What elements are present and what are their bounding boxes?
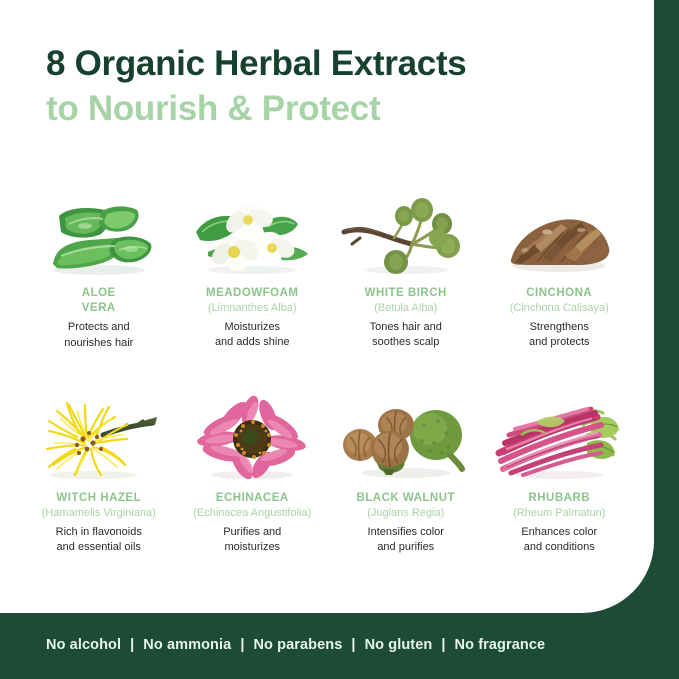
extract-desc-line1: Tones hair and — [370, 321, 442, 333]
white-birch-branch-icon — [338, 186, 474, 278]
claim-separator: | — [121, 637, 143, 653]
extract-desc-line2: and purifies — [377, 541, 434, 553]
extract-card-aloe-vera: ALOE VERA Protects and nourishes hair — [22, 186, 176, 391]
extract-card-black-walnut: BLACK WALNUT (Juglans Regia) Intensifies… — [329, 391, 483, 596]
extract-description: Rich in flavonoids and essential oils — [56, 525, 142, 556]
extract-card-rhubarb: RHUBARB (Rheum Palmatun) Enhances color … — [483, 391, 637, 596]
extract-name: WHITE BIRCH — [365, 286, 447, 301]
extract-desc-line1: Purifies and — [223, 526, 281, 538]
extract-description: Purifies and moisturizes — [223, 525, 281, 556]
extract-name: CINCHONA — [526, 286, 592, 301]
extract-name: MEADOWFOAM — [206, 286, 299, 301]
extract-desc-line2: and adds shine — [215, 336, 290, 348]
extract-card-meadowfoam: MEADOWFOAM (Limnanthes Alba) Moisturizes… — [176, 186, 330, 391]
claim-no-parabens: No parabens — [253, 637, 342, 653]
extract-latin-name: (Hamamelis Virginiana) — [42, 506, 156, 520]
extract-description: Intensifies color and purifies — [368, 525, 444, 556]
claim-separator: | — [432, 637, 454, 653]
claim-separator: | — [231, 637, 253, 653]
claim-no-gluten: No gluten — [365, 637, 433, 653]
extract-name: WITCH HAZEL — [56, 491, 141, 506]
claims-list: No alcohol | No ammonia | No parabens | … — [46, 637, 545, 653]
cinchona-bark-icon — [491, 186, 627, 278]
extract-desc-line2: soothes scalp — [372, 336, 439, 348]
aloe-vera-leaves-icon — [31, 186, 167, 278]
claim-no-alcohol: No alcohol — [46, 637, 121, 653]
extract-name-line1: ALOE — [82, 287, 116, 299]
header: 8 Organic Herbal Extracts to Nourish & P… — [0, 44, 654, 128]
claim-no-ammonia: No ammonia — [143, 637, 231, 653]
witch-hazel-flower-icon — [31, 391, 167, 483]
footer-claims-bar: No alcohol | No ammonia | No parabens | … — [0, 610, 679, 679]
extract-description: Protects and nourishes hair — [64, 320, 133, 351]
extract-desc-line2: and conditions — [524, 541, 595, 553]
extract-name: ALOE VERA — [82, 286, 116, 315]
extract-desc-line1: Strengthens — [530, 321, 589, 333]
extract-description: Tones hair and soothes scalp — [370, 320, 442, 351]
extract-card-echinacea: ECHINACEA (Echinacea Angustifolia) Purif… — [176, 391, 330, 596]
extract-card-white-birch: WHITE BIRCH (Betula Alba) Tones hair and… — [329, 186, 483, 391]
page-title-line2: to Nourish & Protect — [46, 89, 654, 128]
extract-name-line2: VERA — [82, 302, 116, 314]
claim-separator: | — [342, 637, 364, 653]
extract-latin-name: (Echinacea Angustifolia) — [193, 506, 311, 520]
extract-card-cinchona: CINCHONA (Cinchona Calisaya) Strengthens… — [483, 186, 637, 391]
extract-card-witch-hazel: WITCH HAZEL (Hamamelis Virginiana) Rich … — [22, 391, 176, 596]
black-walnut-nuts-icon — [338, 391, 474, 483]
extract-desc-line1: Moisturizes — [224, 321, 280, 333]
rhubarb-stalks-icon — [491, 391, 627, 483]
extracts-grid: ALOE VERA Protects and nourishes hair — [22, 186, 636, 596]
extract-description: Strengthens and protects — [529, 320, 590, 351]
extract-name: BLACK WALNUT — [356, 491, 455, 506]
extract-desc-line2: nourishes hair — [64, 337, 133, 349]
extract-description: Moisturizes and adds shine — [215, 320, 290, 351]
extract-desc-line2: and essential oils — [57, 541, 141, 553]
extract-name: ECHINACEA — [216, 491, 289, 506]
echinacea-flower-icon — [184, 391, 320, 483]
extract-description: Enhances color and conditions — [521, 525, 597, 556]
extract-latin-name: (Limnanthes Alba) — [208, 301, 297, 315]
extract-desc-line1: Intensifies color — [368, 526, 444, 538]
extract-latin-name: (Rheum Palmatun) — [513, 506, 605, 520]
page-title-line1: 8 Organic Herbal Extracts — [46, 44, 654, 83]
extract-latin-name: (Juglans Regia) — [367, 506, 444, 520]
extract-latin-name: (Cinchona Calisaya) — [510, 301, 609, 315]
extract-desc-line2: and protects — [529, 336, 590, 348]
extract-desc-line1: Rich in flavonoids — [56, 526, 142, 538]
extract-name: RHUBARB — [528, 491, 590, 506]
infographic-root: 8 Organic Herbal Extracts to Nourish & P… — [0, 0, 679, 679]
extract-desc-line1: Protects and — [68, 321, 130, 333]
claim-no-fragrance: No fragrance — [455, 637, 546, 653]
extract-desc-line2: moisturizes — [224, 541, 280, 553]
extract-latin-name: (Betula Alba) — [374, 301, 437, 315]
meadowfoam-flower-icon — [184, 186, 320, 278]
extract-desc-line1: Enhances color — [521, 526, 597, 538]
